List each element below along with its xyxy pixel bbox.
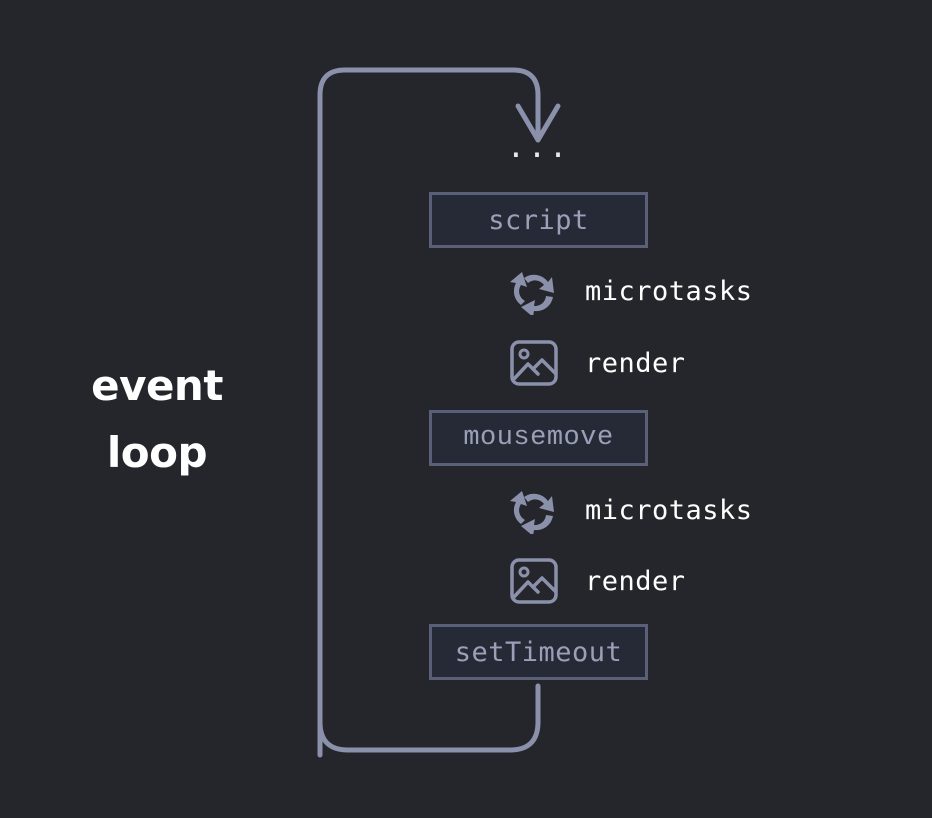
phase-label-microtasks: microtasks	[585, 276, 753, 307]
recycle-cycle-icon	[508, 486, 560, 534]
phase-row-render-1: render	[508, 339, 686, 387]
phase-label-render: render	[585, 348, 686, 379]
task-queue-column: ... script microtasks	[429, 0, 849, 818]
phase-row-microtasks-2: microtasks	[508, 486, 753, 534]
phase-label-microtasks: microtasks	[585, 495, 753, 526]
phase-row-render-2: render	[508, 557, 686, 605]
recycle-cycle-icon	[508, 267, 560, 315]
image-picture-icon	[508, 557, 560, 605]
task-box-settimeout[interactable]: setTimeout	[429, 624, 648, 680]
image-picture-icon	[508, 339, 560, 387]
task-box-mousemove[interactable]: mousemove	[429, 410, 648, 466]
task-box-script[interactable]: script	[429, 192, 648, 248]
ellipsis-indicator: ...	[429, 133, 648, 163]
phase-row-microtasks-1: microtasks	[508, 267, 753, 315]
event-loop-diagram: event loop ... script microtasks	[0, 0, 932, 818]
page-title: event loop	[30, 352, 284, 486]
phase-label-render: render	[585, 566, 686, 597]
